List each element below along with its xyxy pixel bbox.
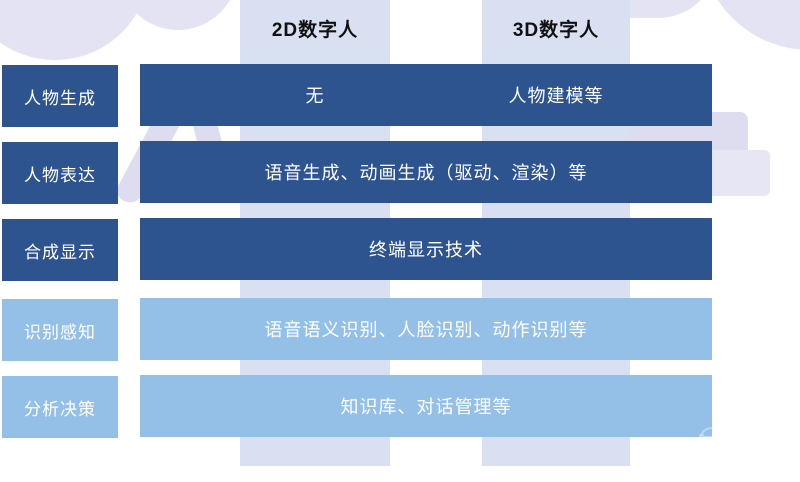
cell-character-generation-2d: 无	[240, 64, 390, 126]
background-shape-top-right-2	[628, 0, 718, 18]
cell-character-generation-2d-text: 无	[306, 82, 325, 108]
row-label-synthesis-display: 合成显示	[2, 219, 118, 281]
cell-character-expression-text: 语音生成、动画生成（驱动、渲染）等	[265, 159, 588, 185]
row-label-synthesis-display-text: 合成显示	[24, 238, 96, 263]
cell-analysis-decision-merged: 知识库、对话管理等	[140, 375, 712, 437]
watermark-subtitle: z h i d x . c o m	[688, 465, 786, 472]
cell-synthesis-display-text: 终端显示技术	[369, 236, 483, 262]
row-label-recognition-perception-text: 识别感知	[24, 318, 96, 343]
background-shape-top-left-2	[118, 0, 238, 30]
watermark-wrap: 智东西	[696, 436, 777, 463]
column-header-3d: 3D数字人	[482, 2, 630, 54]
background-shape-top-left	[0, 0, 150, 60]
cell-synthesis-display-merged: 终端显示技术	[140, 218, 712, 280]
row-bar-recognition-perception: 语音语义识别、人脸识别、动作识别等	[140, 298, 712, 360]
column-header-2d-label: 2D数字人	[272, 15, 358, 42]
cell-character-expression-merged: 语音生成、动画生成（驱动、渲染）等	[140, 141, 712, 203]
cell-character-generation-3d-text: 人物建模等	[509, 82, 604, 108]
row-bar-character-generation: 无 人物建模等	[140, 64, 712, 126]
watermark: 智东西 z h i d x . c o m	[688, 436, 786, 472]
row-bar-analysis-decision: 知识库、对话管理等	[140, 375, 712, 437]
row-bar-character-expression: 语音生成、动画生成（驱动、渲染）等	[140, 141, 712, 203]
row-label-character-expression: 人物表达	[2, 142, 118, 204]
row-label-analysis-decision: 分析决策	[2, 376, 118, 438]
column-header-3d-label: 3D数字人	[513, 15, 599, 42]
diagram-canvas: 2D数字人 3D数字人 人物生成 无 人物建模等 人物表达 语音生成、动画生成（…	[0, 0, 800, 482]
cell-recognition-perception-merged: 语音语义识别、人脸识别、动作识别等	[140, 298, 712, 360]
watermark-glyphs: 智东西	[696, 436, 777, 463]
row-label-character-generation-text: 人物生成	[24, 84, 96, 109]
row-label-character-generation: 人物生成	[2, 65, 118, 127]
row-label-analysis-decision-text: 分析决策	[24, 395, 96, 420]
row-bar-synthesis-display: 终端显示技术	[140, 218, 712, 280]
row-label-recognition-perception: 识别感知	[2, 299, 118, 361]
background-shape-top-right	[700, 0, 800, 50]
row-label-character-expression-text: 人物表达	[24, 161, 96, 186]
cell-analysis-decision-text: 知识库、对话管理等	[341, 393, 512, 419]
column-header-2d: 2D数字人	[240, 2, 390, 54]
cell-character-generation-3d: 人物建模等	[482, 64, 630, 126]
cell-recognition-perception-text: 语音语义识别、人脸识别、动作识别等	[265, 316, 588, 342]
